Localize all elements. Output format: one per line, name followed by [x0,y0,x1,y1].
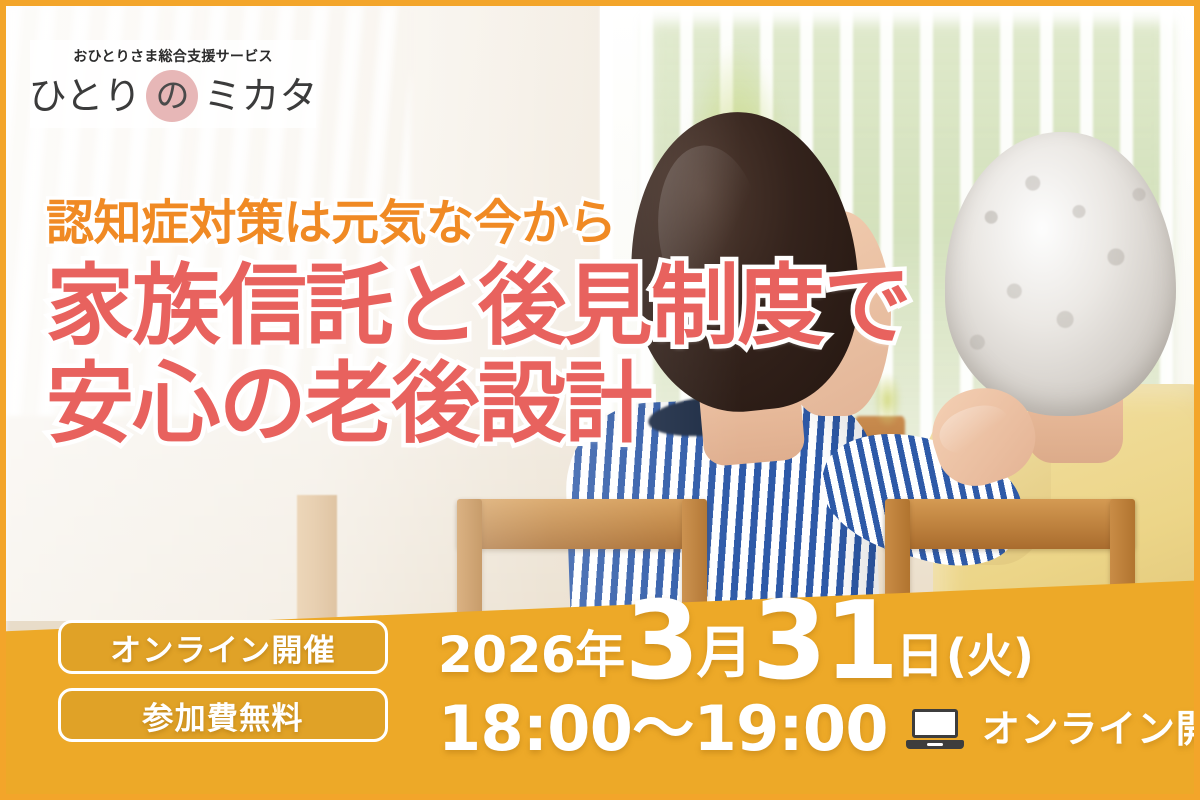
event-time: 18:00〜19:00 [438,698,888,760]
event-date: 2026年 3 月 31 日 (火) [438,582,1194,690]
badge-online[interactable]: オンライン開催 [58,620,388,674]
laptop-screen [912,709,958,738]
event-weekday: (火) [946,633,1034,679]
event-month-unit: 月 [697,626,752,682]
brand-name: ひとり の ミカタ [29,70,318,122]
event-schedule: 2026年 3 月 31 日 (火) 18:00〜19:00 オンライン開催 [438,582,1194,760]
badge-group: オンライン開催 参加費無料 [58,620,388,742]
headline-line-1: 家族信託と後見制度で [46,257,1006,356]
headline-line-2: 安心の老後設計 [46,355,1006,454]
brand-logo: おひとりさま総合支援サービス ひとり の ミカタ [30,40,316,128]
headline-kicker: 認知症対策は元気な今から [46,198,1006,249]
brand-name-part1: ひとり [29,77,142,115]
event-format-note: オンライン開催 [982,710,1194,748]
laptop-base [906,740,964,749]
event-time-row: 18:00〜19:00 オンライン開催 [438,698,1194,760]
seminar-banner: おひとりさま総合支援サービス ひとり の ミカタ 認知症対策は元気な今から 家族… [0,0,1200,800]
badge-free[interactable]: 参加費無料 [58,688,388,742]
event-day-unit: 日 [896,632,944,680]
brand-name-circle: の [146,70,198,122]
headline-block: 認知症対策は元気な今から 家族信託と後見制度で 安心の老後設計 [46,198,1006,454]
brand-name-part2: ミカタ [203,77,317,115]
headline-main: 家族信託と後見制度で 安心の老後設計 [46,257,1006,454]
event-month-number: 3 [625,588,697,696]
photo-chair-left-back [457,499,706,549]
event-day-number: 31 [752,588,896,696]
banner-stage: おひとりさま総合支援サービス ひとり の ミカタ 認知症対策は元気な今から 家族… [6,6,1194,794]
event-year: 2026年 [438,630,625,680]
photo-chair-right-back [885,499,1134,549]
laptop-icon [906,709,964,749]
brand-tagline: おひとりさま総合支援サービス [73,46,273,66]
